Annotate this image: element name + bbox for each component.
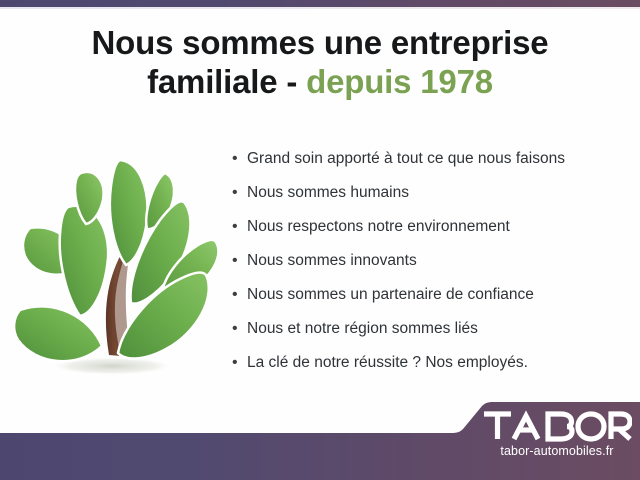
title-line-2-main: familiale -	[147, 63, 297, 100]
bullet-marker-icon: •	[232, 284, 247, 306]
list-item: • Nous sommes innovants	[232, 250, 632, 284]
list-item-label: Nous sommes humains	[247, 182, 409, 204]
tree-leaf	[14, 306, 102, 361]
list-item: • Nous sommes un partenaire de confiance	[232, 284, 632, 318]
slide-canvas: Nous sommes une entreprise familiale -de…	[0, 0, 640, 480]
bullet-marker-icon: •	[232, 352, 247, 374]
brand-lockup: tabor-automobiles.fr	[482, 410, 632, 458]
list-item-label: Nous sommes innovants	[247, 250, 417, 272]
list-item: • La clé de notre réussite ? Nos employé…	[232, 352, 632, 386]
list-item-label: Nous et notre région sommes liés	[247, 318, 478, 340]
list-item: • Nous sommes humains	[232, 182, 632, 216]
list-item: • Nous et notre région sommes liés	[232, 318, 632, 352]
tree-illustration	[8, 150, 223, 385]
title-line-2: familiale -depuis 1978	[0, 63, 640, 102]
bullet-marker-icon: •	[232, 216, 247, 238]
title-accent-depuis-1978: depuis 1978	[306, 63, 493, 100]
bullet-marker-icon: •	[232, 148, 247, 170]
bullet-marker-icon: •	[232, 182, 247, 204]
top-accent-strip	[0, 0, 640, 7]
value-bullet-list: • Grand soin apporté à tout ce que nous …	[232, 148, 632, 386]
list-item-label: La clé de notre réussite ? Nos employés.	[247, 352, 528, 374]
list-item-label: Nous sommes un partenaire de confiance	[247, 284, 534, 306]
list-item: • Grand soin apporté à tout ce que nous …	[232, 148, 632, 182]
bullet-marker-icon: •	[232, 318, 247, 340]
page-title: Nous sommes une entreprise familiale -de…	[0, 24, 640, 102]
top-accent-hairline	[0, 7, 640, 9]
list-item-label: Nous respectons notre environnement	[247, 216, 510, 238]
tabor-logo	[482, 410, 632, 442]
list-item: • Nous respectons notre environnement	[232, 216, 632, 250]
brand-tagline: tabor-automobiles.fr	[482, 444, 632, 458]
list-item-label: Grand soin apporté à tout ce que nous fa…	[247, 148, 565, 170]
title-line-1: Nous sommes une entreprise	[0, 24, 640, 63]
bullet-marker-icon: •	[232, 250, 247, 272]
